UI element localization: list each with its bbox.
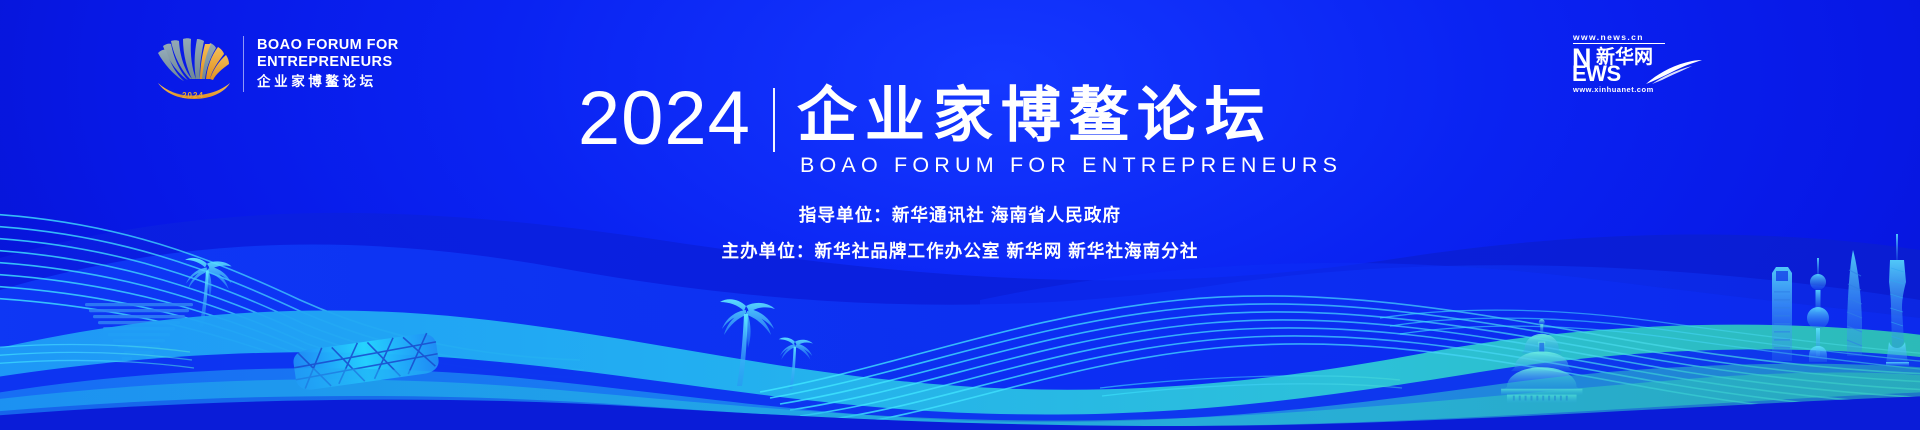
title-english: BOAO FORUM FOR ENTREPRENEURS (797, 152, 1342, 178)
boao-forum-banner: 2024 BOAO FORUM FOR ENTREPRENEURS 企业家博鳌论… (0, 0, 1920, 430)
main-title-block: 2024 企业家博鳌论坛 BOAO FORUM FOR ENTREPRENEUR… (0, 84, 1920, 178)
title-chinese: 企业家博鳌论坛 (797, 84, 1342, 148)
xinhua-chinese-name: 新华网 (1596, 47, 1653, 68)
title-year: 2024 (578, 84, 751, 154)
host-units-line: 主办单位：新华社品牌工作办公室 新华网 新华社海南分社 (722, 234, 1199, 268)
title-row: 2024 企业家博鳌论坛 BOAO FORUM FOR ENTREPRENEUR… (578, 84, 1342, 178)
boao-logo-text: BOAO FORUM FOR ENTREPRENEURS 企业家博鳌论坛 (257, 37, 399, 91)
title-divider (773, 88, 775, 152)
boao-logo-english-line2: ENTREPRENEURS (257, 54, 399, 71)
xinhua-wordmark: N EWS 新华网 (1570, 45, 1700, 85)
title-right: 企业家博鳌论坛 BOAO FORUM FOR ENTREPRENEURS (797, 84, 1342, 178)
boao-logo-english-line1: BOAO FORUM FOR (257, 37, 399, 54)
guidance-units-line: 指导单位：新华通讯社 海南省人民政府 (799, 198, 1121, 232)
xinhua-swoosh-icon (1646, 59, 1702, 85)
organizer-lines: 指导单位：新华通讯社 海南省人民政府 主办单位：新华社品牌工作办公室 新华网 新… (0, 198, 1920, 268)
xinhua-top-url: www.news.cn (1570, 32, 1700, 42)
